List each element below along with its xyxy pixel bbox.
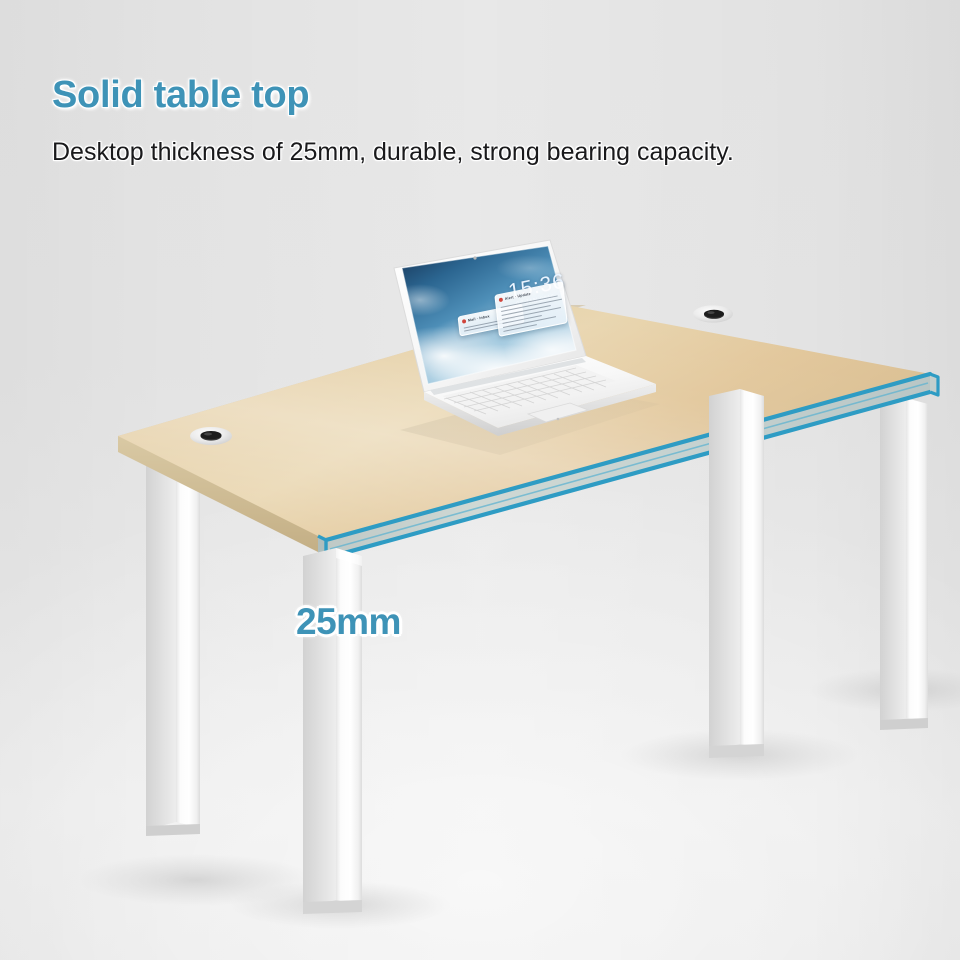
cable-grommet-right [693, 305, 733, 322]
webcam-dot [473, 256, 476, 259]
table-leg-back-right [880, 398, 928, 730]
notification-icon-2 [499, 298, 503, 303]
table-leg-back-left [146, 444, 200, 836]
thickness-callout-label: 25mm [296, 601, 401, 643]
trackpad-button-dot [557, 418, 560, 421]
cable-grommet-left [190, 427, 232, 445]
notification-icon-1 [462, 319, 466, 324]
table-leg-front-right [709, 389, 764, 758]
copy-block: Solid table top Desktop thickness of 25m… [52, 74, 892, 169]
laptop: 15:36 07 JAN 2016 Mail · Inbox Alert · U… [380, 238, 670, 458]
notification-title-1: Mail · Inbox [468, 314, 490, 322]
headline: Solid table top [52, 74, 892, 118]
laptop-illustration [380, 238, 670, 458]
subheadline: Desktop thickness of 25mm, durable, stro… [52, 136, 832, 169]
product-feature-banner: 15:36 07 JAN 2016 Mail · Inbox Alert · U… [0, 0, 960, 960]
notification-title-2: Alert · Update [505, 292, 531, 301]
